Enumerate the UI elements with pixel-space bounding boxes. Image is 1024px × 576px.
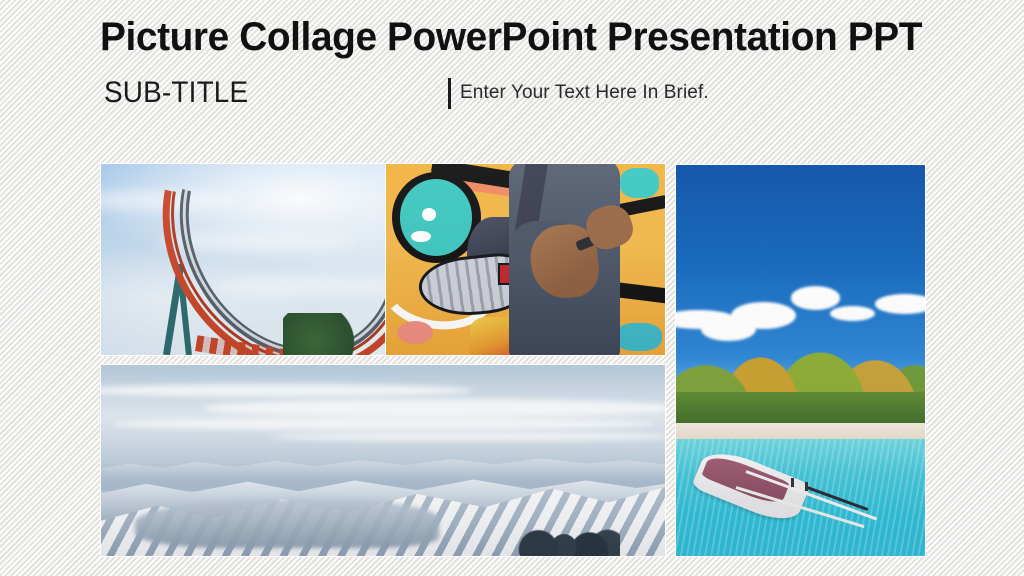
photo-tropical-beach[interactable] <box>676 165 925 556</box>
graffiti-backpacker-image <box>386 164 665 355</box>
page-title: Picture Collage PowerPoint Presentation … <box>100 14 934 60</box>
brief-text-group: Enter Your Text Here In Brief. <box>448 77 709 109</box>
subtitle-label: SUB-TITLE <box>104 76 248 110</box>
roller-coaster-image <box>101 164 385 355</box>
photo-roller-coaster[interactable] <box>101 164 385 355</box>
photo-snow-mountains[interactable] <box>101 365 665 556</box>
brief-text: Enter Your Text Here In Brief. <box>460 82 709 104</box>
vertical-rule-divider <box>448 78 451 109</box>
tropical-beach-image <box>676 165 925 556</box>
snow-mountains-image <box>101 365 665 556</box>
presentation-slide: Picture Collage PowerPoint Presentation … <box>0 0 1024 576</box>
photo-graffiti-backpacker[interactable] <box>386 164 665 355</box>
